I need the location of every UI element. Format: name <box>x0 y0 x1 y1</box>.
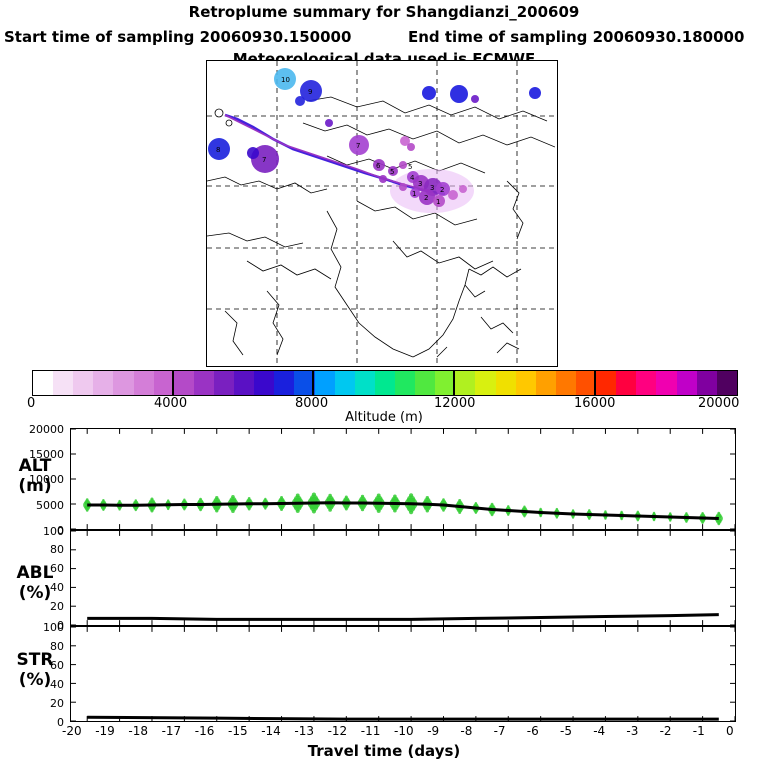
svg-text:10: 10 <box>281 76 290 84</box>
colorbar-swatch-24 <box>516 371 536 395</box>
x-tick--1: -1 <box>693 724 705 738</box>
colorbar-swatch-4 <box>113 371 133 395</box>
x-tick-labels: -20-19-18-17-16-15-14-13-12-11-10-9-8-7-… <box>0 724 768 740</box>
colorbar-swatch-1 <box>53 371 73 395</box>
svg-text:2: 2 <box>424 194 428 202</box>
colorbar-swatch-5 <box>134 371 154 395</box>
svg-text:9: 9 <box>308 88 312 96</box>
colorbar-swatch-34 <box>717 371 737 395</box>
altitude-colorbar <box>32 370 738 396</box>
x-tick--12: -12 <box>328 724 348 738</box>
colorbar-swatch-30 <box>636 371 656 395</box>
colorbar-swatch-0 <box>33 371 53 395</box>
retroplume-map: 10 9 8 7 7 6 5 5 4 3 3 2 2 1 1 <box>206 60 558 367</box>
abl-ytick-60: 60 <box>18 562 64 575</box>
x-tick--4: -4 <box>593 724 605 738</box>
svg-text:3: 3 <box>418 180 422 188</box>
colorbar-swatch-12 <box>274 371 294 395</box>
colorbar-tick-4000: 4000 <box>154 396 187 411</box>
x-tick--8: -8 <box>460 724 472 738</box>
x-tick--6: -6 <box>527 724 539 738</box>
colorbar-swatch-15 <box>335 371 355 395</box>
colorbar-swatch-2 <box>73 371 93 395</box>
x-tick--18: -18 <box>128 724 148 738</box>
colorbar-swatch-8 <box>194 371 214 395</box>
colorbar-swatch-31 <box>656 371 676 395</box>
colorbar-swatch-32 <box>677 371 697 395</box>
svg-text:8: 8 <box>216 146 220 154</box>
x-tick--17: -17 <box>162 724 182 738</box>
map-svg: 10 9 8 7 7 6 5 5 4 3 3 2 2 1 1 <box>207 61 555 364</box>
colorbar-swatch-22 <box>475 371 495 395</box>
colorbar-swatch-19 <box>415 371 435 395</box>
end-time-label: End time of sampling 20060930.180000 <box>408 28 744 46</box>
str-ytick-40: 40 <box>18 678 64 691</box>
str-ytick-80: 80 <box>18 640 64 653</box>
x-tick--9: -9 <box>427 724 439 738</box>
colorbar-swatch-16 <box>355 371 375 395</box>
colorbar-swatch-6 <box>154 371 174 395</box>
colorbar-swatch-14 <box>315 371 335 395</box>
colorbar-tick-16000: 16000 <box>574 396 615 411</box>
start-time-label: Start time of sampling 20060930.150000 <box>4 28 351 46</box>
colorbar-tick-major-1 <box>172 370 174 396</box>
alt-plot <box>71 429 735 529</box>
str-panel <box>70 626 736 722</box>
colorbar-swatch-28 <box>596 371 616 395</box>
abl-line <box>87 615 719 620</box>
x-tick--3: -3 <box>626 724 638 738</box>
x-tick--7: -7 <box>494 724 506 738</box>
alt-ytick-15000: 15000 <box>18 448 64 461</box>
abl-ytick-100: 100 <box>18 525 64 538</box>
alt-panel <box>70 428 736 530</box>
colorbar-tick-8000: 8000 <box>295 396 328 411</box>
str-ytick-60: 60 <box>18 659 64 672</box>
colorbar-swatch-25 <box>536 371 556 395</box>
svg-text:7: 7 <box>262 156 266 164</box>
abl-ytick-40: 40 <box>18 581 64 594</box>
x-tick--14: -14 <box>261 724 281 738</box>
page-title: Retroplume summary for Shangdianzi_20060… <box>0 3 768 21</box>
colorbar-swatch-33 <box>697 371 717 395</box>
svg-text:6: 6 <box>376 162 381 170</box>
colorbar-swatch-10 <box>234 371 254 395</box>
colorbar-tick-20000: 20000 <box>698 396 739 411</box>
colorbar-tick-major-4 <box>594 370 596 396</box>
str-ytick-20: 20 <box>18 697 64 710</box>
colorbar-swatch-29 <box>616 371 636 395</box>
colorbar-swatch-7 <box>174 371 194 395</box>
colorbar-label: Altitude (m) <box>0 410 768 425</box>
colorbar-tick-major-2 <box>312 370 314 396</box>
x-tick--2: -2 <box>660 724 672 738</box>
alt-scatter-points <box>83 493 723 526</box>
svg-text:4: 4 <box>410 174 415 182</box>
svg-text:1: 1 <box>436 198 440 206</box>
str-plot <box>71 627 735 721</box>
x-axis-title: Travel time (days) <box>0 742 768 760</box>
svg-text:2: 2 <box>440 186 444 194</box>
str-ytick-100: 100 <box>18 621 64 634</box>
x-tick--10: -10 <box>394 724 414 738</box>
colorbar-swatch-23 <box>496 371 516 395</box>
x-tick--5: -5 <box>560 724 572 738</box>
colorbar-swatch-21 <box>455 371 475 395</box>
x-tick--11: -11 <box>361 724 381 738</box>
abl-plot <box>71 531 735 625</box>
abl-panel <box>70 530 736 626</box>
colorbar-swatch-9 <box>214 371 234 395</box>
svg-text:3: 3 <box>430 184 434 192</box>
svg-text:7: 7 <box>356 142 360 150</box>
colorbar-swatch-18 <box>395 371 415 395</box>
colorbar-swatch-26 <box>556 371 576 395</box>
alt-ytick-5000: 5000 <box>18 499 64 512</box>
colorbar-swatch-17 <box>375 371 395 395</box>
svg-text:5: 5 <box>408 163 412 171</box>
map-background <box>207 61 555 364</box>
svg-text:1: 1 <box>412 190 416 198</box>
timeseries-panels <box>70 428 736 722</box>
x-tick--19: -19 <box>95 724 115 738</box>
colorbar-tick-0: 0 <box>27 396 35 411</box>
x-tick--20: -20 <box>62 724 82 738</box>
colorbar-tick-major-3 <box>453 370 455 396</box>
x-tick-0: 0 <box>726 724 734 738</box>
x-tick--16: -16 <box>195 724 215 738</box>
alt-ytick-20000: 20000 <box>18 423 64 436</box>
colorbar-tick-12000: 12000 <box>434 396 475 411</box>
x-tick--13: -13 <box>294 724 314 738</box>
abl-ytick-80: 80 <box>18 543 64 556</box>
colorbar-swatch-3 <box>93 371 113 395</box>
alt-mean-line <box>87 503 719 519</box>
colorbar-swatch-11 <box>254 371 274 395</box>
svg-text:5: 5 <box>390 168 394 176</box>
str-line <box>87 717 719 719</box>
alt-ytick-10000: 10000 <box>18 473 64 486</box>
abl-ytick-20: 20 <box>18 600 64 613</box>
x-tick--15: -15 <box>228 724 248 738</box>
